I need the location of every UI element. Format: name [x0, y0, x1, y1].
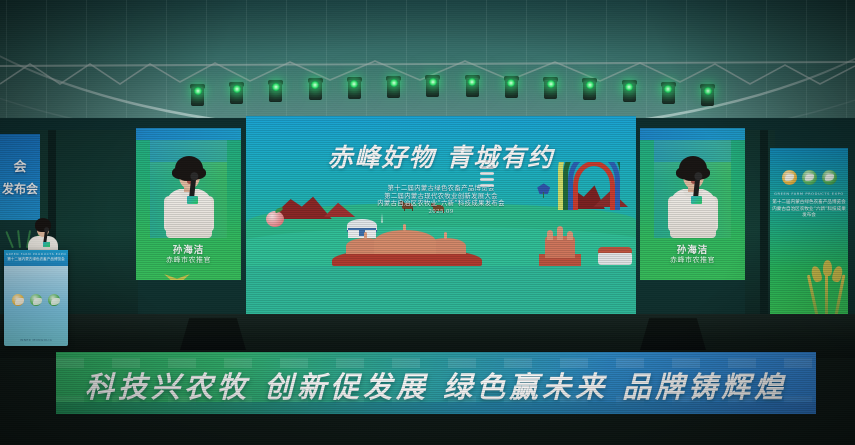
banner-english-line: GREEN FARM PRODUCTS EXPO — [770, 192, 848, 196]
mic-flag-icon — [691, 196, 702, 204]
moving-head-light-icon — [465, 71, 480, 97]
main-title: 赤峰好物 青城有约 — [246, 138, 636, 174]
stage-riser-left — [180, 318, 246, 350]
tower-spire-right — [567, 231, 573, 240]
edge-screen-line1: 会 — [0, 156, 40, 175]
speaker-role-left: 赤峰市农推官 — [136, 255, 241, 265]
side-screen-right: 孙海洁 赤峰市农推官 — [640, 128, 745, 280]
logo-apple-icon — [782, 170, 797, 185]
moving-head-light-icon — [622, 76, 637, 102]
palace-finial-right — [444, 232, 447, 239]
moving-head-light-icon — [543, 73, 558, 99]
podium-english-line: GREEN FARM PRODUCTS EXPO — [4, 252, 68, 256]
podium-header: GREEN FARM PRODUCTS EXPO 第十二届内蒙古绿色农畜产品博览… — [4, 250, 68, 266]
wheat-icon — [812, 256, 846, 318]
event-date: 2025.09 — [246, 209, 636, 217]
building-roof — [598, 247, 632, 253]
mic-flag-icon — [187, 196, 198, 204]
speaker-photo-right — [654, 140, 731, 238]
moving-head-light-icon — [190, 80, 205, 106]
tower-spire-left — [547, 230, 553, 240]
podium-footer: INNER MONGOLIA — [4, 338, 68, 342]
logo-grain-icon — [48, 294, 60, 306]
podium-mic-flag-icon — [43, 242, 50, 247]
moving-head-light-icon — [308, 74, 323, 100]
banner-logo-row — [770, 170, 848, 185]
moving-head-light-icon — [268, 76, 283, 102]
tower-spire-center — [557, 226, 563, 240]
edge-screen-left: 会 发布会 — [0, 134, 40, 220]
stage-riser-right — [640, 318, 706, 350]
banner-cn-line-2: 内蒙古自治区农牧业“六新”科技成果发布会 — [770, 207, 848, 219]
moving-head-light-icon — [504, 72, 519, 98]
bottom-led-banner: 科技兴农牧 创新促发展 绿色赢未来 品牌铸辉煌 — [56, 352, 816, 414]
palace-finial-center — [403, 224, 406, 231]
moving-head-light-icon — [661, 78, 676, 104]
illustration-foreground — [246, 266, 636, 314]
moving-head-light-icon — [347, 73, 362, 99]
side-screen-left-header — [136, 128, 241, 140]
main-subtitle-block: 第十二届内蒙古绿色农畜产品博览会 第二届内蒙古现代农牧业创新发展大会 内蒙古自治… — [246, 185, 636, 216]
logo-leaf-icon — [30, 294, 42, 306]
speaker-hair — [679, 156, 707, 181]
leaf-accent-icon — [164, 274, 190, 280]
podium: GREEN FARM PRODUCTS EXPO 第十二届内蒙古绿色农畜产品博览… — [4, 250, 68, 346]
moving-head-light-icon — [229, 78, 244, 104]
speaker-role-right: 赤峰市农推官 — [640, 255, 745, 265]
speaker-figure — [158, 152, 220, 238]
main-led-screen: 赤峰好物 青城有约 第十二届内蒙古绿色农畜产品博览会 第二届内蒙古现代农牧业创新… — [246, 116, 636, 314]
palace-finial-left — [364, 232, 367, 239]
moving-head-light-icon — [425, 71, 440, 97]
logo-apple-icon — [12, 294, 24, 306]
podium-logo-row — [4, 294, 68, 306]
moving-head-light-icon — [700, 80, 715, 106]
palace-roof-center — [374, 230, 436, 254]
side-screen-left: 孙海洁 赤峰市农推官 — [136, 128, 241, 280]
speaker-name-left: 孙海洁 — [136, 242, 241, 256]
subtitle-line-3: 内蒙古自治区农牧业“六新”科技成果发布会 — [246, 200, 636, 208]
banner-cn-line-1: 第十二届内蒙古绿色农畜产品博览会 — [770, 200, 848, 206]
palace-icon — [332, 224, 482, 266]
side-screen-right-header — [640, 128, 745, 140]
edge-screen-line2: 发布会 — [0, 180, 40, 197]
moving-head-light-icon — [386, 72, 401, 98]
logo-leaf-icon — [802, 170, 817, 185]
speaker-photo-left — [150, 140, 227, 238]
building-icon — [598, 252, 632, 265]
stage-photo: 会 发布会 孙海洁 赤峰市农推官 — [0, 0, 855, 445]
wall-seam-right — [760, 130, 768, 314]
tower-icon — [539, 226, 581, 266]
podium-cn-line-1: 第十二届内蒙古绿色农畜产品博览会 — [4, 257, 68, 261]
moving-head-light-icon — [582, 74, 597, 100]
logo-grain-icon — [822, 170, 837, 185]
speaker-hair — [175, 156, 203, 181]
bottom-banner-text: 科技兴农牧 创新促发展 绿色赢未来 品牌铸辉煌 — [56, 364, 816, 406]
bottom-banner-strip — [56, 402, 816, 414]
lighting-truss — [0, 60, 855, 116]
speaker-figure — [662, 152, 724, 238]
speaker-name-right: 孙海洁 — [640, 242, 745, 256]
